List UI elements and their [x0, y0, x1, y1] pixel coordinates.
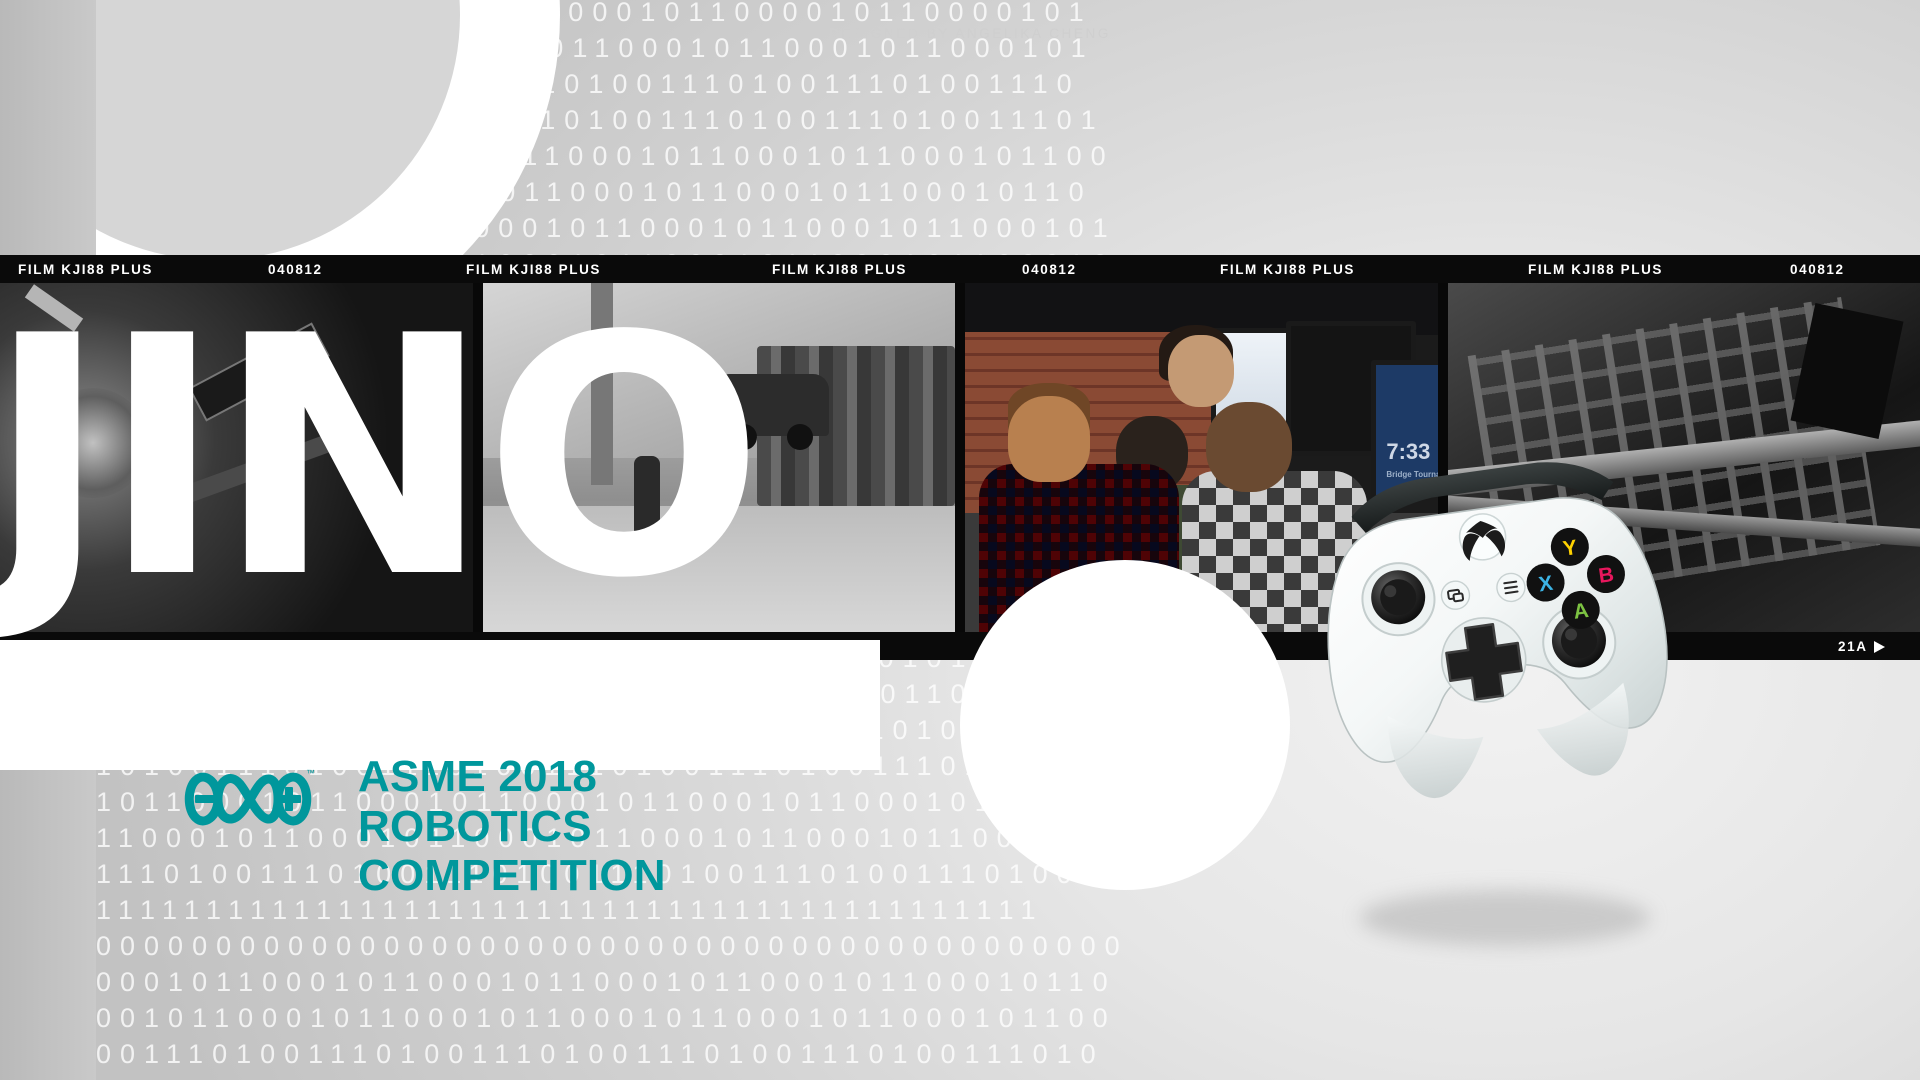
binary-row: 0001011000101100010110001011000101100010…	[96, 964, 876, 1000]
film-frame-number: 21A	[1838, 639, 1885, 654]
film-header-label: 040812	[1790, 262, 1845, 277]
svg-text:X: X	[1537, 572, 1554, 597]
svg-text:A: A	[1572, 599, 1590, 624]
brand-lockup: ™ ASME 2018 ROBOTICS COMPETITION	[182, 752, 828, 901]
play-triangle-icon	[1874, 641, 1885, 653]
film-header-label: FILM KJI88 PLUS	[1528, 262, 1663, 277]
arduino-infinity-icon: ™	[182, 762, 314, 836]
binary-row: 0010110001011000101100010110001011000101…	[96, 1000, 876, 1036]
film-header-label: 040812	[1022, 262, 1077, 277]
subtitle-line-1: ASME 2018 ROBOTICS	[358, 752, 828, 851]
film-header-label: FILM KJI88 PLUS	[772, 262, 907, 277]
designed-by-credit: DESIGNED BY ANGELIKA CHENG	[760, 26, 1180, 41]
subtitle-block: ASME 2018 ROBOTICS COMPETITION	[358, 752, 828, 901]
film-header-label: FILM KJI88 PLUS	[1220, 262, 1355, 277]
page-title: JINO	[0, 330, 756, 587]
subtitle-line-2: COMPETITION	[358, 851, 828, 901]
svg-text:B: B	[1597, 563, 1615, 588]
decorative-white-curve	[960, 560, 1290, 890]
controller-drop-shadow	[1360, 890, 1650, 946]
svg-text:Y: Y	[1562, 536, 1579, 561]
binary-row: 0000000000000000000000000000000000000000…	[96, 928, 876, 964]
svg-text:™: ™	[306, 768, 314, 778]
poster-canvas: 0111000010110001011000010110000101100001…	[0, 0, 1920, 1080]
binary-row: 0011101001110100111010011101001110100111…	[96, 1036, 876, 1072]
decorative-white-wedge	[0, 640, 880, 770]
xbox-one-controller[interactable]: Y X B A	[1258, 422, 1733, 828]
